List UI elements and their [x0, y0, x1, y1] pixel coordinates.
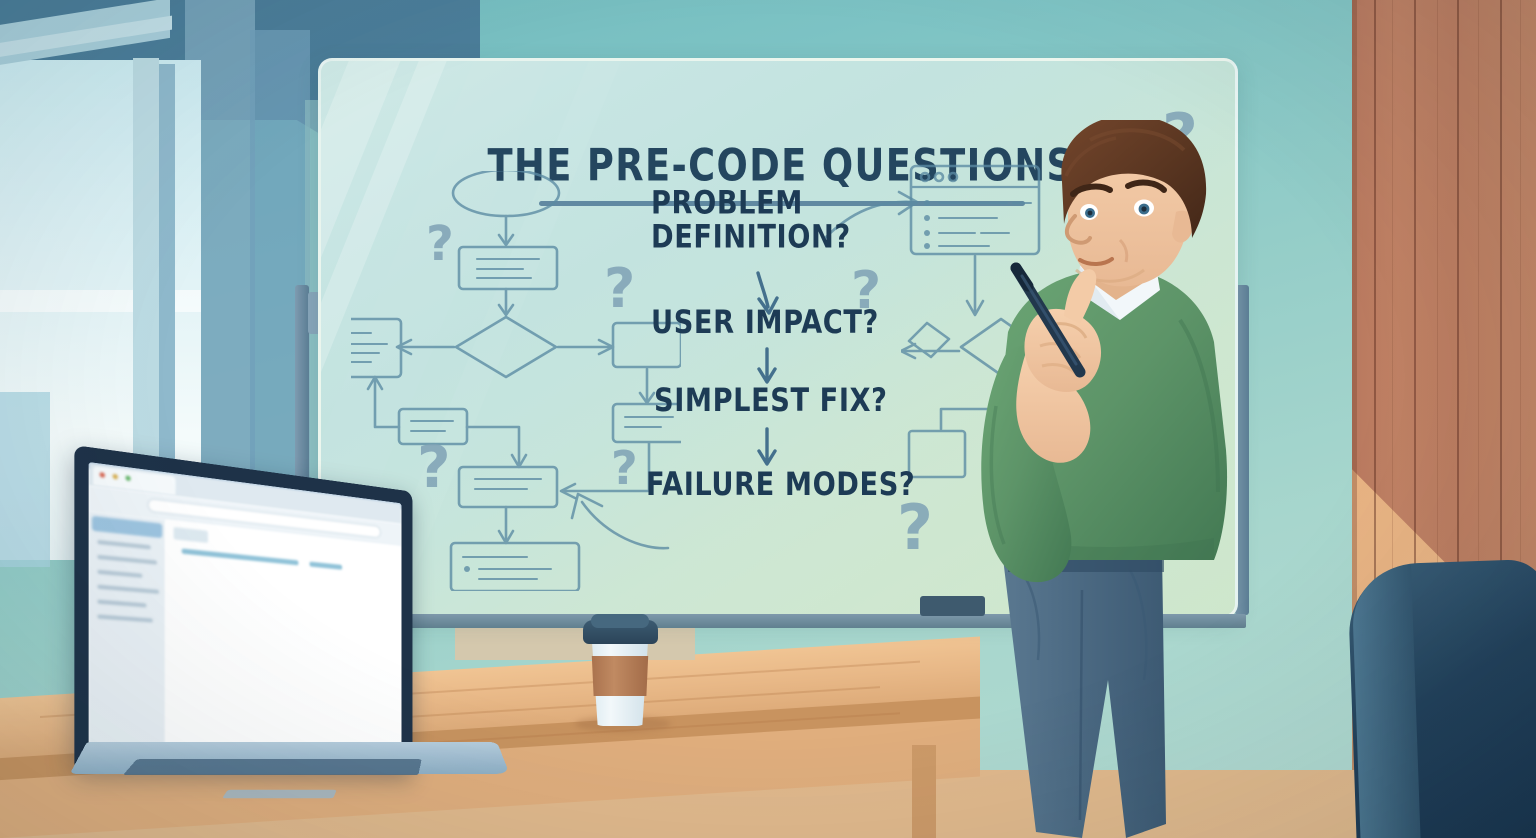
- arrow-down-3: [751, 427, 783, 469]
- question-mark-icon-6: ?: [897, 491, 933, 564]
- coffee-cup: [583, 608, 658, 726]
- window-sill: [0, 392, 50, 567]
- trousers: [1002, 550, 1166, 838]
- illustration-scene: THE PRE-CODE QUESTIONS: [0, 0, 1536, 838]
- question-item-3: SIMPLEST FIX?: [654, 383, 888, 417]
- laptop-lid: [74, 445, 412, 772]
- laptop[interactable]: [75, 470, 495, 810]
- thinking-developer: [930, 120, 1260, 838]
- cup-lid-top: [591, 614, 649, 628]
- question-item-2: USER IMPACT?: [651, 305, 879, 339]
- question-mark-icon-5: ?: [851, 261, 881, 321]
- laptop-trackpad[interactable]: [222, 790, 337, 798]
- laptop-keyboard[interactable]: [123, 759, 422, 775]
- office-chair-rim: [1351, 565, 1421, 838]
- question-mark-icon-4: ?: [611, 441, 638, 495]
- cup-sleeve: [590, 656, 650, 696]
- question-mark-icon-2: ?: [604, 257, 635, 320]
- laptop-screen[interactable]: [89, 462, 402, 755]
- question-item-4: FAILURE MODES?: [646, 467, 915, 501]
- question-mark-icon-1: ?: [426, 216, 454, 272]
- question-item-1: PROBLEM DEFINITION?: [651, 186, 851, 254]
